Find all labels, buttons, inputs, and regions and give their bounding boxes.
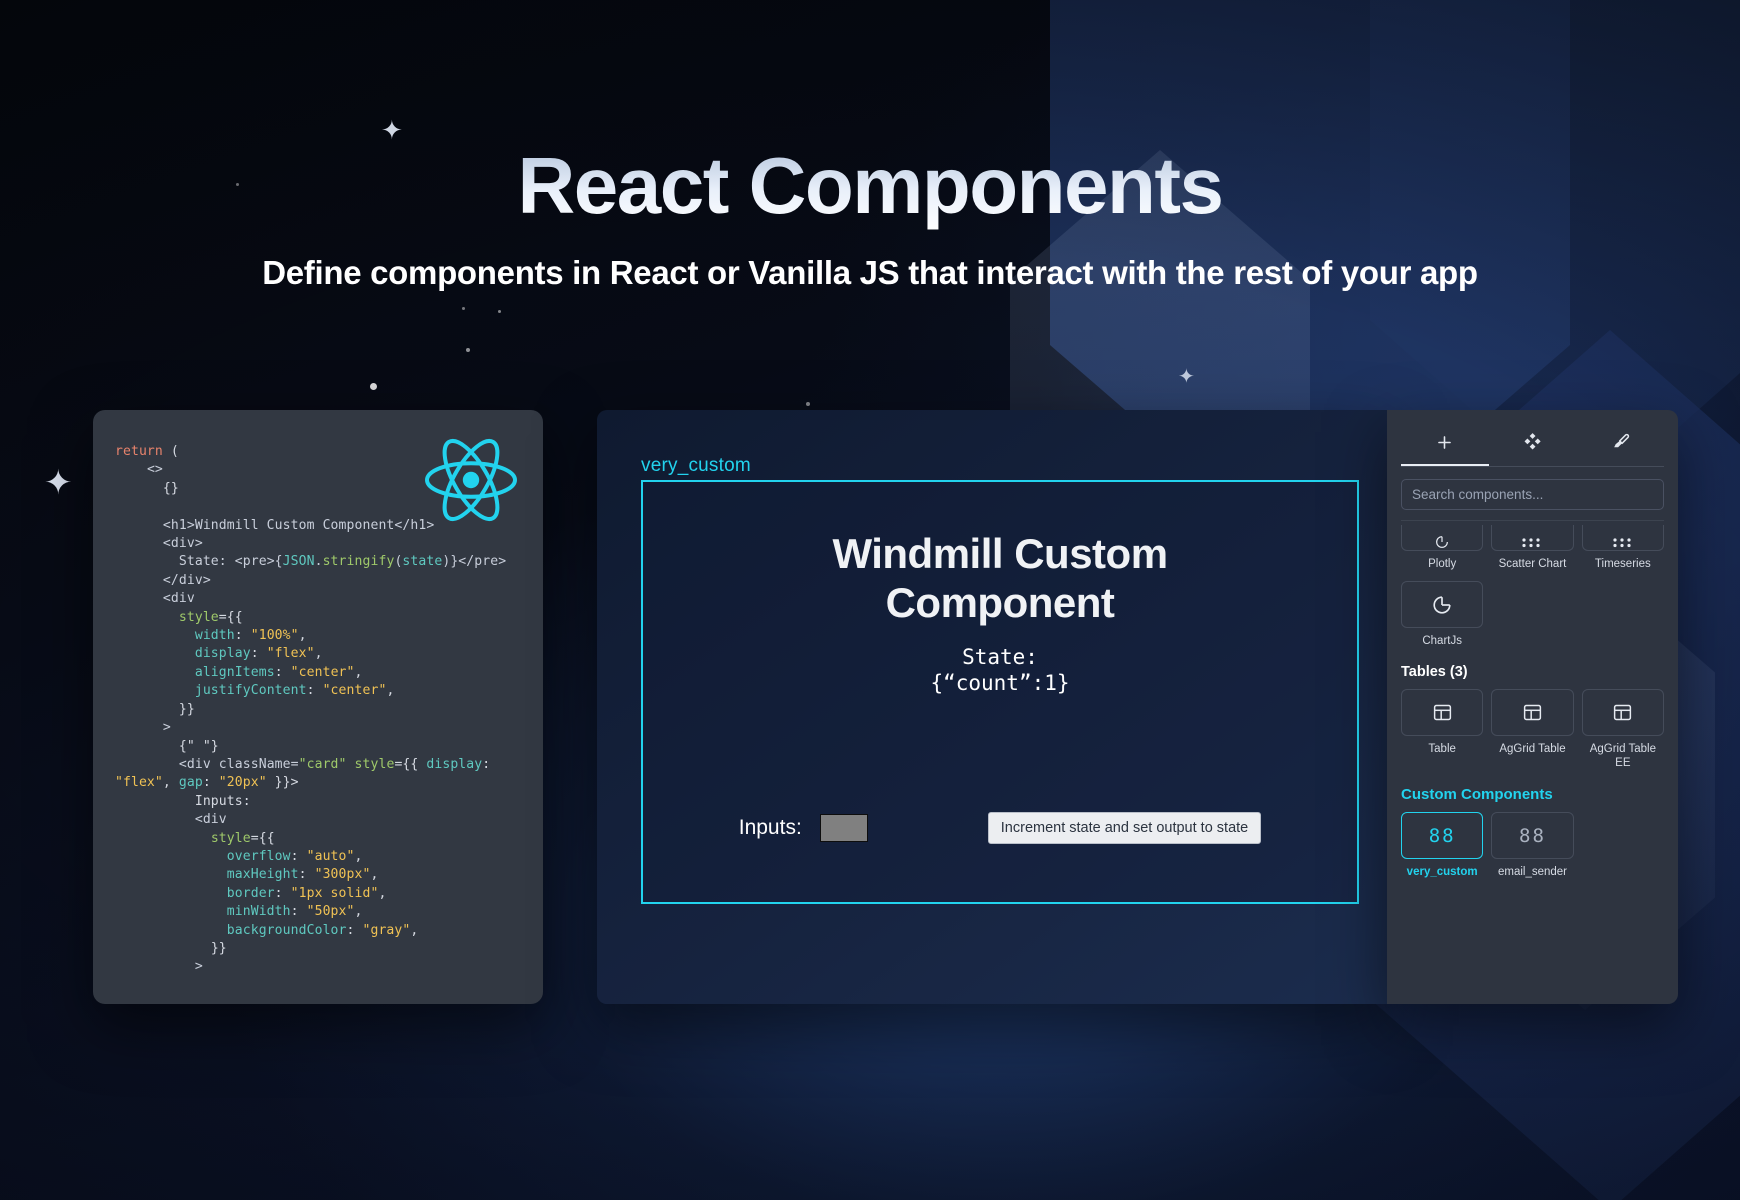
code-token: <div className= [115,757,299,772]
custom-components-row: 88 very_custom 88 email_sender [1401,812,1664,879]
table-tile [1401,689,1483,736]
component-list[interactable]: Plotly Scatter Chart [1387,520,1678,879]
code-token: , [315,646,323,661]
component-heading: Windmill Custom Component [790,530,1210,627]
code-line: {" "} [115,738,525,756]
email-sender-tile: 88 [1491,812,1573,859]
code-token: : [235,628,251,643]
code-token: > [115,720,171,735]
inputs-label: Inputs: [739,816,802,840]
code-token: }} [115,941,227,956]
aggrid-table-ee-tile [1582,689,1664,736]
component-label: Timeseries [1595,557,1651,571]
sparkle-icon: ✦ [1178,367,1195,387]
sidebar-tabs [1387,410,1678,460]
code-token: , [410,923,418,938]
component-label: ChartJs [1422,634,1462,648]
component-item-very-custom[interactable]: 88 very_custom [1401,812,1483,879]
code-line: justifyContent: "center", [115,682,525,700]
code-line: <div className="card" style={{ display: [115,756,525,774]
code-line: <div [115,590,525,608]
code-token: state [402,554,442,569]
state-label: State: [643,645,1357,671]
code-line: <div [115,811,525,829]
code-token: }} [115,702,195,717]
code-panel: return ( <> {} <h1>Windmill Custom Compo… [93,410,543,1004]
code-token: , [386,683,394,698]
pie-chart-icon [1431,594,1453,616]
code-line: > [115,719,525,737]
code-token: style [115,831,251,846]
plotly-donut-icon [1430,534,1454,550]
component-item-chartjs[interactable]: ChartJs [1401,581,1483,648]
chartjs-tile [1401,581,1483,628]
timeseries-tile [1582,525,1664,551]
table-icon [1522,702,1543,723]
code-token: "300px" [315,867,371,882]
table-icon [1432,702,1453,723]
code-token: {} [115,481,179,496]
code-token: stringify [323,554,395,569]
code-token: "20px" [219,775,267,790]
very-custom-tile: 88 [1401,812,1483,859]
code-token: "card" [299,757,347,772]
code-token: ={{ [219,610,243,625]
aggrid-table-tile [1491,689,1573,736]
tables-row: Table AgGrid Table [1401,689,1664,770]
code-token: JSON [283,554,315,569]
code-token: : [275,665,291,680]
plus-icon [1435,433,1454,452]
table-icon [1612,702,1633,723]
component-label: email_sender [1498,865,1567,879]
code-token: : [347,923,363,938]
increment-state-button[interactable]: Increment state and set output to state [988,812,1261,844]
code-token: style [347,757,395,772]
component-sidebar: Plotly Scatter Chart [1387,410,1678,1004]
code-token: Inputs: [115,794,251,809]
charts-row-2: ChartJs [1401,581,1664,648]
search-wrapper [1387,467,1678,510]
code-token: width [115,628,235,643]
code-token: State: <pre>{ [115,554,283,569]
custom-component-frame: Windmill Custom Component State: {“count… [641,480,1359,904]
code-token: "flex" [115,775,163,790]
charts-row-clipped: Plotly Scatter Chart [1401,525,1664,571]
code-token: <div> [115,536,203,551]
component-item-aggrid-table-ee[interactable]: AgGrid Table EE [1582,689,1664,770]
code-token: , [299,628,307,643]
code-token: ={{ [251,831,275,846]
code-line: border: "1px solid", [115,885,525,903]
code-token: maxHeight [115,867,299,882]
component-label: AgGrid Table EE [1582,742,1664,770]
component-label: very_custom [1407,865,1478,879]
star-dot [806,402,810,406]
code-token: . [315,554,323,569]
page-title: React Components [518,140,1223,232]
code-token: "50px" [307,904,355,919]
code-token: display [426,757,482,772]
code-line: minWidth: "50px", [115,903,525,921]
component-label: Scatter Chart [1499,557,1567,571]
code-token: "1px solid" [291,886,379,901]
section-heading-tables: Tables (3) [1401,664,1664,680]
code-token: minWidth [115,904,291,919]
code-token: alignItems [115,665,275,680]
code-token: "center" [323,683,387,698]
code-line: }} [115,940,525,958]
component-inputs-row: Inputs: Increment state and set output t… [643,812,1357,844]
component-item-aggrid-table[interactable]: AgGrid Table [1491,689,1573,770]
code-line: State: <pre>{JSON.stringify(state)}</pre… [115,553,525,571]
tab-add-component[interactable] [1401,424,1489,460]
code-token: : [291,904,307,919]
star-dot [498,310,501,313]
code-line: "flex", gap: "20px" }}> [115,774,525,792]
page-subtitle: Define components in React or Vanilla JS… [0,254,1740,292]
scatter-chart-tile [1491,525,1573,551]
code-token: ( [163,444,179,459]
code-token: }}> [267,775,299,790]
code-token: : [482,757,490,772]
code-line: maxHeight: "300px", [115,866,525,884]
plotly-tile [1401,525,1483,551]
code-token: style [115,610,219,625]
code-token: : [275,886,291,901]
component-item-table[interactable]: Table [1401,689,1483,770]
state-value: {“count”:1} [643,671,1357,697]
code-token: </div> [115,573,211,588]
seven-segment-icon: 88 [1519,825,1546,847]
code-line: </div> [115,572,525,590]
code-token: , [355,665,363,680]
code-line: > [115,958,525,976]
code-line: display: "flex", [115,645,525,663]
code-line: backgroundColor: "gray", [115,922,525,940]
code-token: : [291,849,307,864]
code-line: <div> [115,535,525,553]
search-components-input[interactable] [1401,479,1664,510]
code-token: "auto" [307,849,355,864]
seven-segment-icon: 88 [1429,825,1456,847]
code-token: : [307,683,323,698]
code-line: }} [115,701,525,719]
star-dot [370,383,377,390]
code-token: , [370,867,378,882]
code-token: <h1>Windmill Custom Component</h1> [115,518,434,533]
tab-components-tree[interactable] [1489,424,1577,460]
list-divider [1401,520,1664,521]
code-token: "flex" [267,646,315,661]
code-token: backgroundColor [115,923,347,938]
code-line: width: "100%", [115,627,525,645]
code-token: "gray" [362,923,410,938]
code-token: display [115,646,251,661]
timeseries-dots-icon [1610,536,1636,550]
code-token: ={{ [394,757,426,772]
panels-row: return ( <> {} <h1>Windmill Custom Compo… [0,455,1740,1055]
code-token: overflow [115,849,291,864]
react-atom-icon [425,434,517,526]
component-item-plotly[interactable]: Plotly [1401,525,1483,571]
code-line: overflow: "auto", [115,848,525,866]
code-token: , [355,849,363,864]
star-dot [462,307,465,310]
paintbrush-icon [1611,433,1630,452]
code-line: style={{ [115,609,525,627]
inputs-value-box [820,814,868,842]
components-grid-icon [1523,433,1542,452]
code-token: )}</pre> [442,554,506,569]
code-line: Inputs: [115,793,525,811]
component-label: Plotly [1428,557,1456,571]
component-label: AgGrid Table [1499,742,1565,756]
code-token: {" "} [115,739,219,754]
code-line: style={{ [115,830,525,848]
code-token: <> [115,462,163,477]
page-header: React Components Define components in Re… [0,0,1740,292]
code-token: : [251,646,267,661]
app-preview-panel: very_custom Windmill Custom Component St… [597,410,1387,1004]
code-token: "100%" [251,628,299,643]
component-label: Table [1428,742,1456,756]
component-item-scatter-chart[interactable]: Scatter Chart [1491,525,1573,571]
code-token: border [115,886,275,901]
tab-styling[interactable] [1576,424,1664,460]
code-token: <div [115,591,195,606]
code-token: gap [179,775,203,790]
code-token: "center" [291,665,355,680]
code-token: <div [115,812,227,827]
code-token: : [299,867,315,882]
code-line: alignItems: "center", [115,664,525,682]
code-token: , [163,775,179,790]
code-token: justifyContent [115,683,307,698]
component-item-email-sender[interactable]: 88 email_sender [1491,812,1573,879]
scatter-dots-icon [1519,536,1545,550]
code-token: > [115,959,203,974]
code-token: , [378,886,386,901]
code-token: , [355,904,363,919]
component-name-label: very_custom [641,455,751,477]
code-token: : [203,775,219,790]
component-state: State: {“count”:1} [643,645,1357,696]
section-heading-custom-components: Custom Components [1401,786,1664,803]
component-item-timeseries[interactable]: Timeseries [1582,525,1664,571]
code-token: return [115,444,163,459]
star-dot [466,348,470,352]
